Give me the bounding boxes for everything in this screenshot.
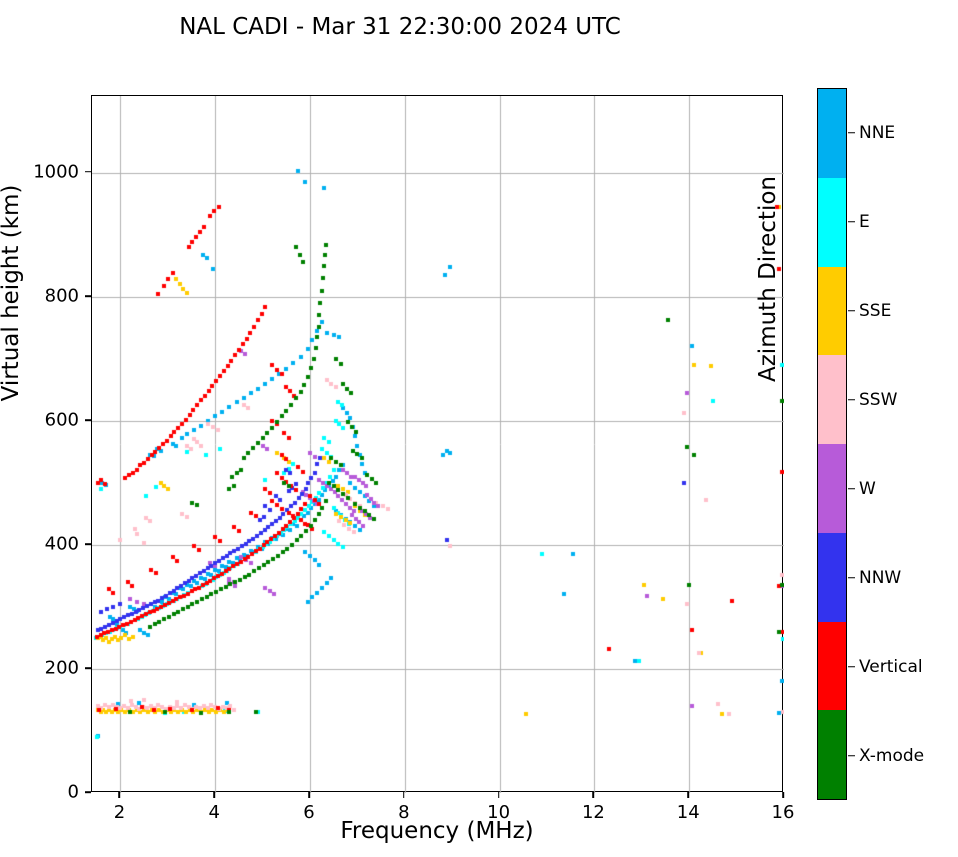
plot-axes: [91, 95, 783, 792]
colorbar-tick: [848, 310, 855, 312]
colorbar-segment-vertical: [818, 622, 846, 711]
x-tick-mark: [119, 792, 121, 798]
colorbar-label-nnw: NNW: [859, 568, 901, 588]
x-tick-mark: [308, 792, 310, 798]
y-tick-mark: [85, 171, 91, 173]
colorbar-segment-x-mode: [818, 710, 846, 799]
x-tick-mark: [782, 792, 784, 798]
colorbar-segment-w: [818, 444, 846, 533]
page-title: NAL CADI - Mar 31 22:30:00 2024 UTC: [0, 14, 800, 40]
colorbar-segment-sse: [818, 267, 846, 356]
colorbar-label-w: W: [859, 479, 876, 499]
y-tick-label: 400: [9, 533, 79, 554]
x-tick-mark: [498, 792, 500, 798]
colorbar-segment-nne: [818, 89, 846, 178]
colorbar-segment-ssw: [818, 355, 846, 444]
colorbar-label-x-mode: X-mode: [859, 746, 924, 766]
y-tick-mark: [85, 295, 91, 297]
x-tick-mark: [593, 792, 595, 798]
y-tick-label: 0: [9, 782, 79, 803]
y-axis-label: Virtual height (km): [0, 143, 24, 443]
colorbar-tick: [848, 755, 855, 757]
scatter-plot-canvas: [92, 96, 784, 793]
colorbar-tick: [848, 399, 855, 401]
x-tick-mark: [687, 792, 689, 798]
colorbar-label-sse: SSE: [859, 301, 891, 321]
x-axis-label: Frequency (MHz): [91, 818, 783, 844]
y-tick-mark: [85, 419, 91, 421]
colorbar-label-e: E: [859, 212, 870, 232]
colorbar-tick: [848, 488, 855, 490]
colorbar-tick: [848, 666, 855, 668]
y-tick-mark: [85, 791, 91, 793]
colorbar-label-vertical: Vertical: [859, 657, 923, 677]
colorbar-label-nne: NNE: [859, 123, 895, 143]
y-tick-mark: [85, 667, 91, 669]
colorbar-segment-e: [818, 178, 846, 267]
colorbar-tick: [848, 221, 855, 223]
colorbar-label-ssw: SSW: [859, 390, 897, 410]
y-tick-mark: [85, 543, 91, 545]
x-tick-mark: [213, 792, 215, 798]
y-tick-label: 200: [9, 657, 79, 678]
colorbar-segment-nnw: [818, 533, 846, 622]
colorbar-tick: [848, 132, 855, 134]
colorbar: [817, 88, 847, 800]
colorbar-tick: [848, 577, 855, 579]
x-tick-mark: [403, 792, 405, 798]
colorbar-label: Azimuth Direction: [755, 114, 781, 444]
ionogram-page: NAL CADI - Mar 31 22:30:00 2024 UTC 0200…: [0, 0, 958, 857]
